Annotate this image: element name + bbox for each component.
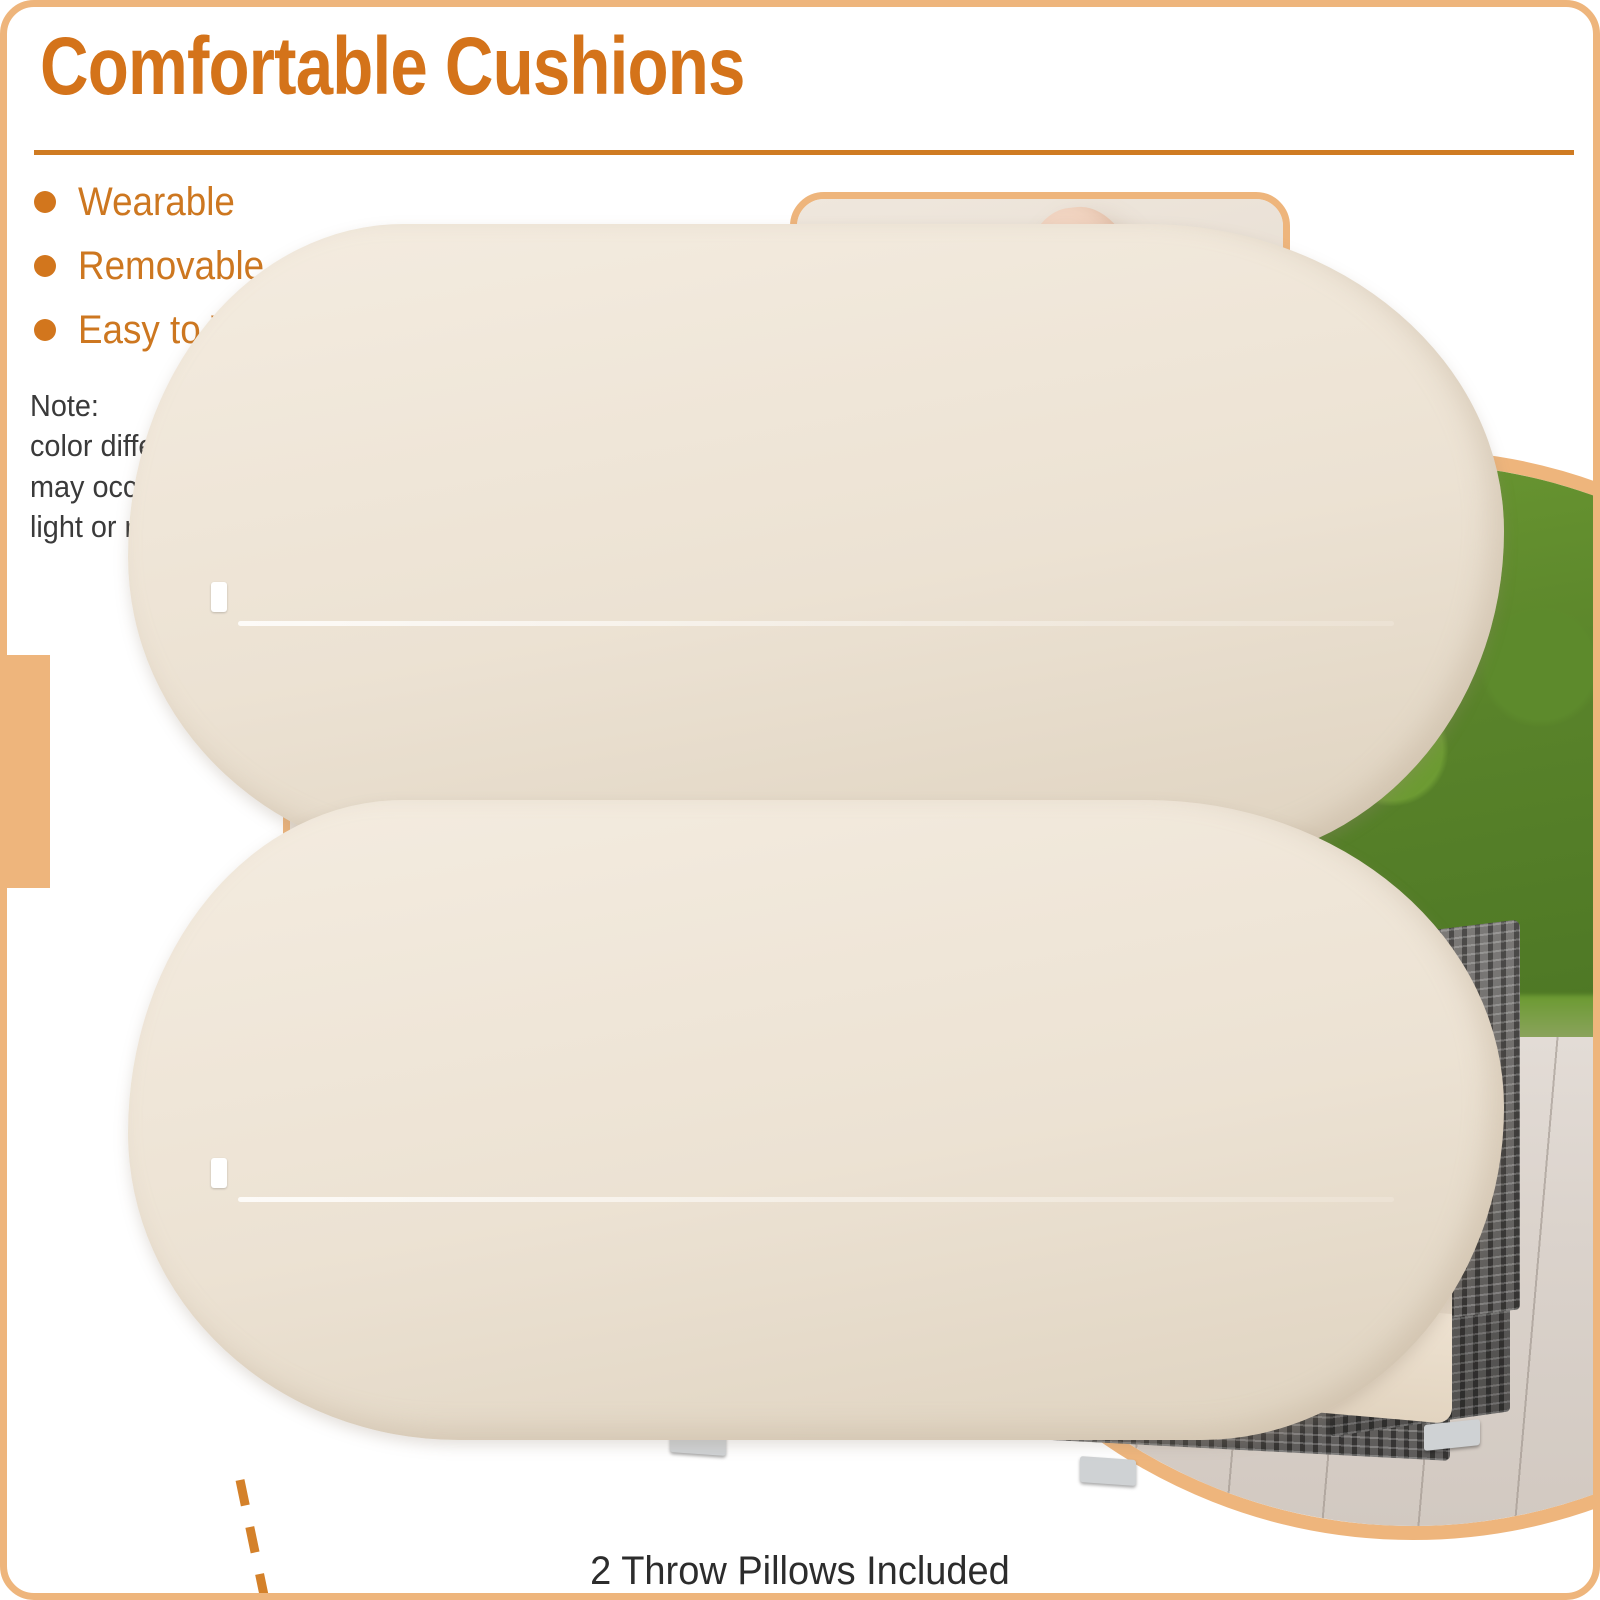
infographic-canvas: Comfortable Cushions Wearable Removable …: [0, 0, 1600, 1600]
callout-caption: 2 Throw Pillows Included: [34, 1549, 1565, 1594]
throw-pillow: [128, 224, 1504, 864]
pillow-zipper-pull-icon: [211, 582, 227, 612]
throw-pillow: [128, 800, 1504, 1440]
pillow-zipper: [238, 1197, 1394, 1202]
callout-card-pillows: 2 Throw Pillows Included: [0, 0, 470, 390]
pillow-zipper-pull-icon: [211, 1158, 227, 1188]
pillow-zipper: [238, 621, 1394, 626]
